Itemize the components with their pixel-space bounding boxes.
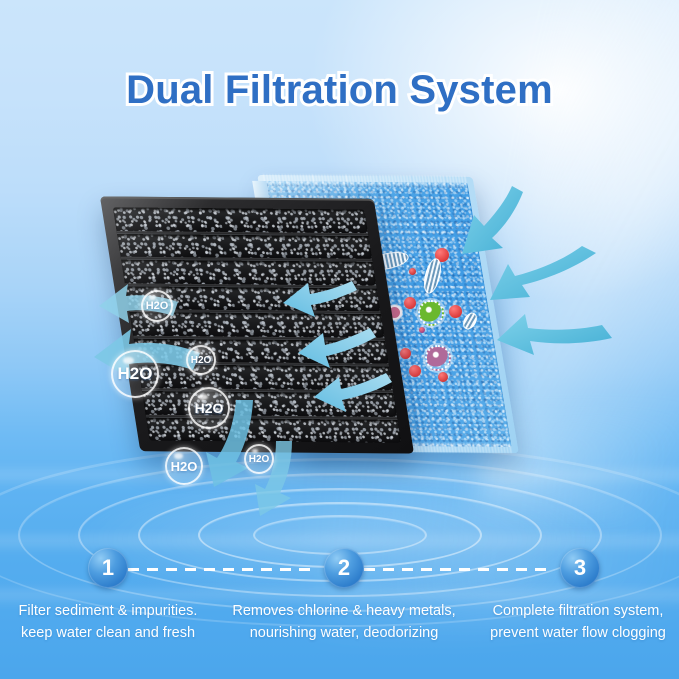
- step-caption-2: Removes chlorine & heavy metals, nourish…: [228, 600, 460, 644]
- step-connector-dashed-line: [364, 568, 549, 571]
- h2o-bubble: H2O: [141, 290, 173, 322]
- step-number-1: 1: [88, 548, 128, 588]
- step-number-3: 3: [560, 548, 600, 588]
- h2o-bubble: H2O: [188, 387, 230, 429]
- step-caption-1-line-1: Filter sediment & impurities.: [0, 600, 224, 622]
- step-caption-1-line-2: keep water clean and fresh: [0, 622, 224, 644]
- h2o-bubble: H2O: [165, 447, 203, 485]
- h2o-bubble-layer: H2OH2OH2OH2OH2OH2O: [0, 0, 679, 560]
- h2o-bubble: H2O: [111, 350, 159, 398]
- step-caption-2-line-1: Removes chlorine & heavy metals,: [228, 600, 460, 622]
- step-caption-3: Complete filtration system, prevent wate…: [462, 600, 679, 644]
- step-caption-1: Filter sediment & impurities. keep water…: [0, 600, 224, 644]
- h2o-bubble: H2O: [186, 345, 216, 375]
- step-caption-2-line-2: nourishing water, deodorizing: [228, 622, 460, 644]
- filter-assembly: H2OH2OH2OH2OH2OH2O: [0, 0, 679, 560]
- step-number-2: 2: [324, 548, 364, 588]
- infographic-stage: Dual Filtration System: [0, 0, 679, 679]
- step-caption-3-line-1: Complete filtration system,: [462, 600, 679, 622]
- h2o-bubble: H2O: [244, 444, 274, 474]
- steps-section: 1 2 3 Filter sediment & impurities. keep…: [0, 548, 679, 679]
- step-caption-3-line-2: prevent water flow clogging: [462, 622, 679, 644]
- step-connector-dashed-line: [128, 568, 313, 571]
